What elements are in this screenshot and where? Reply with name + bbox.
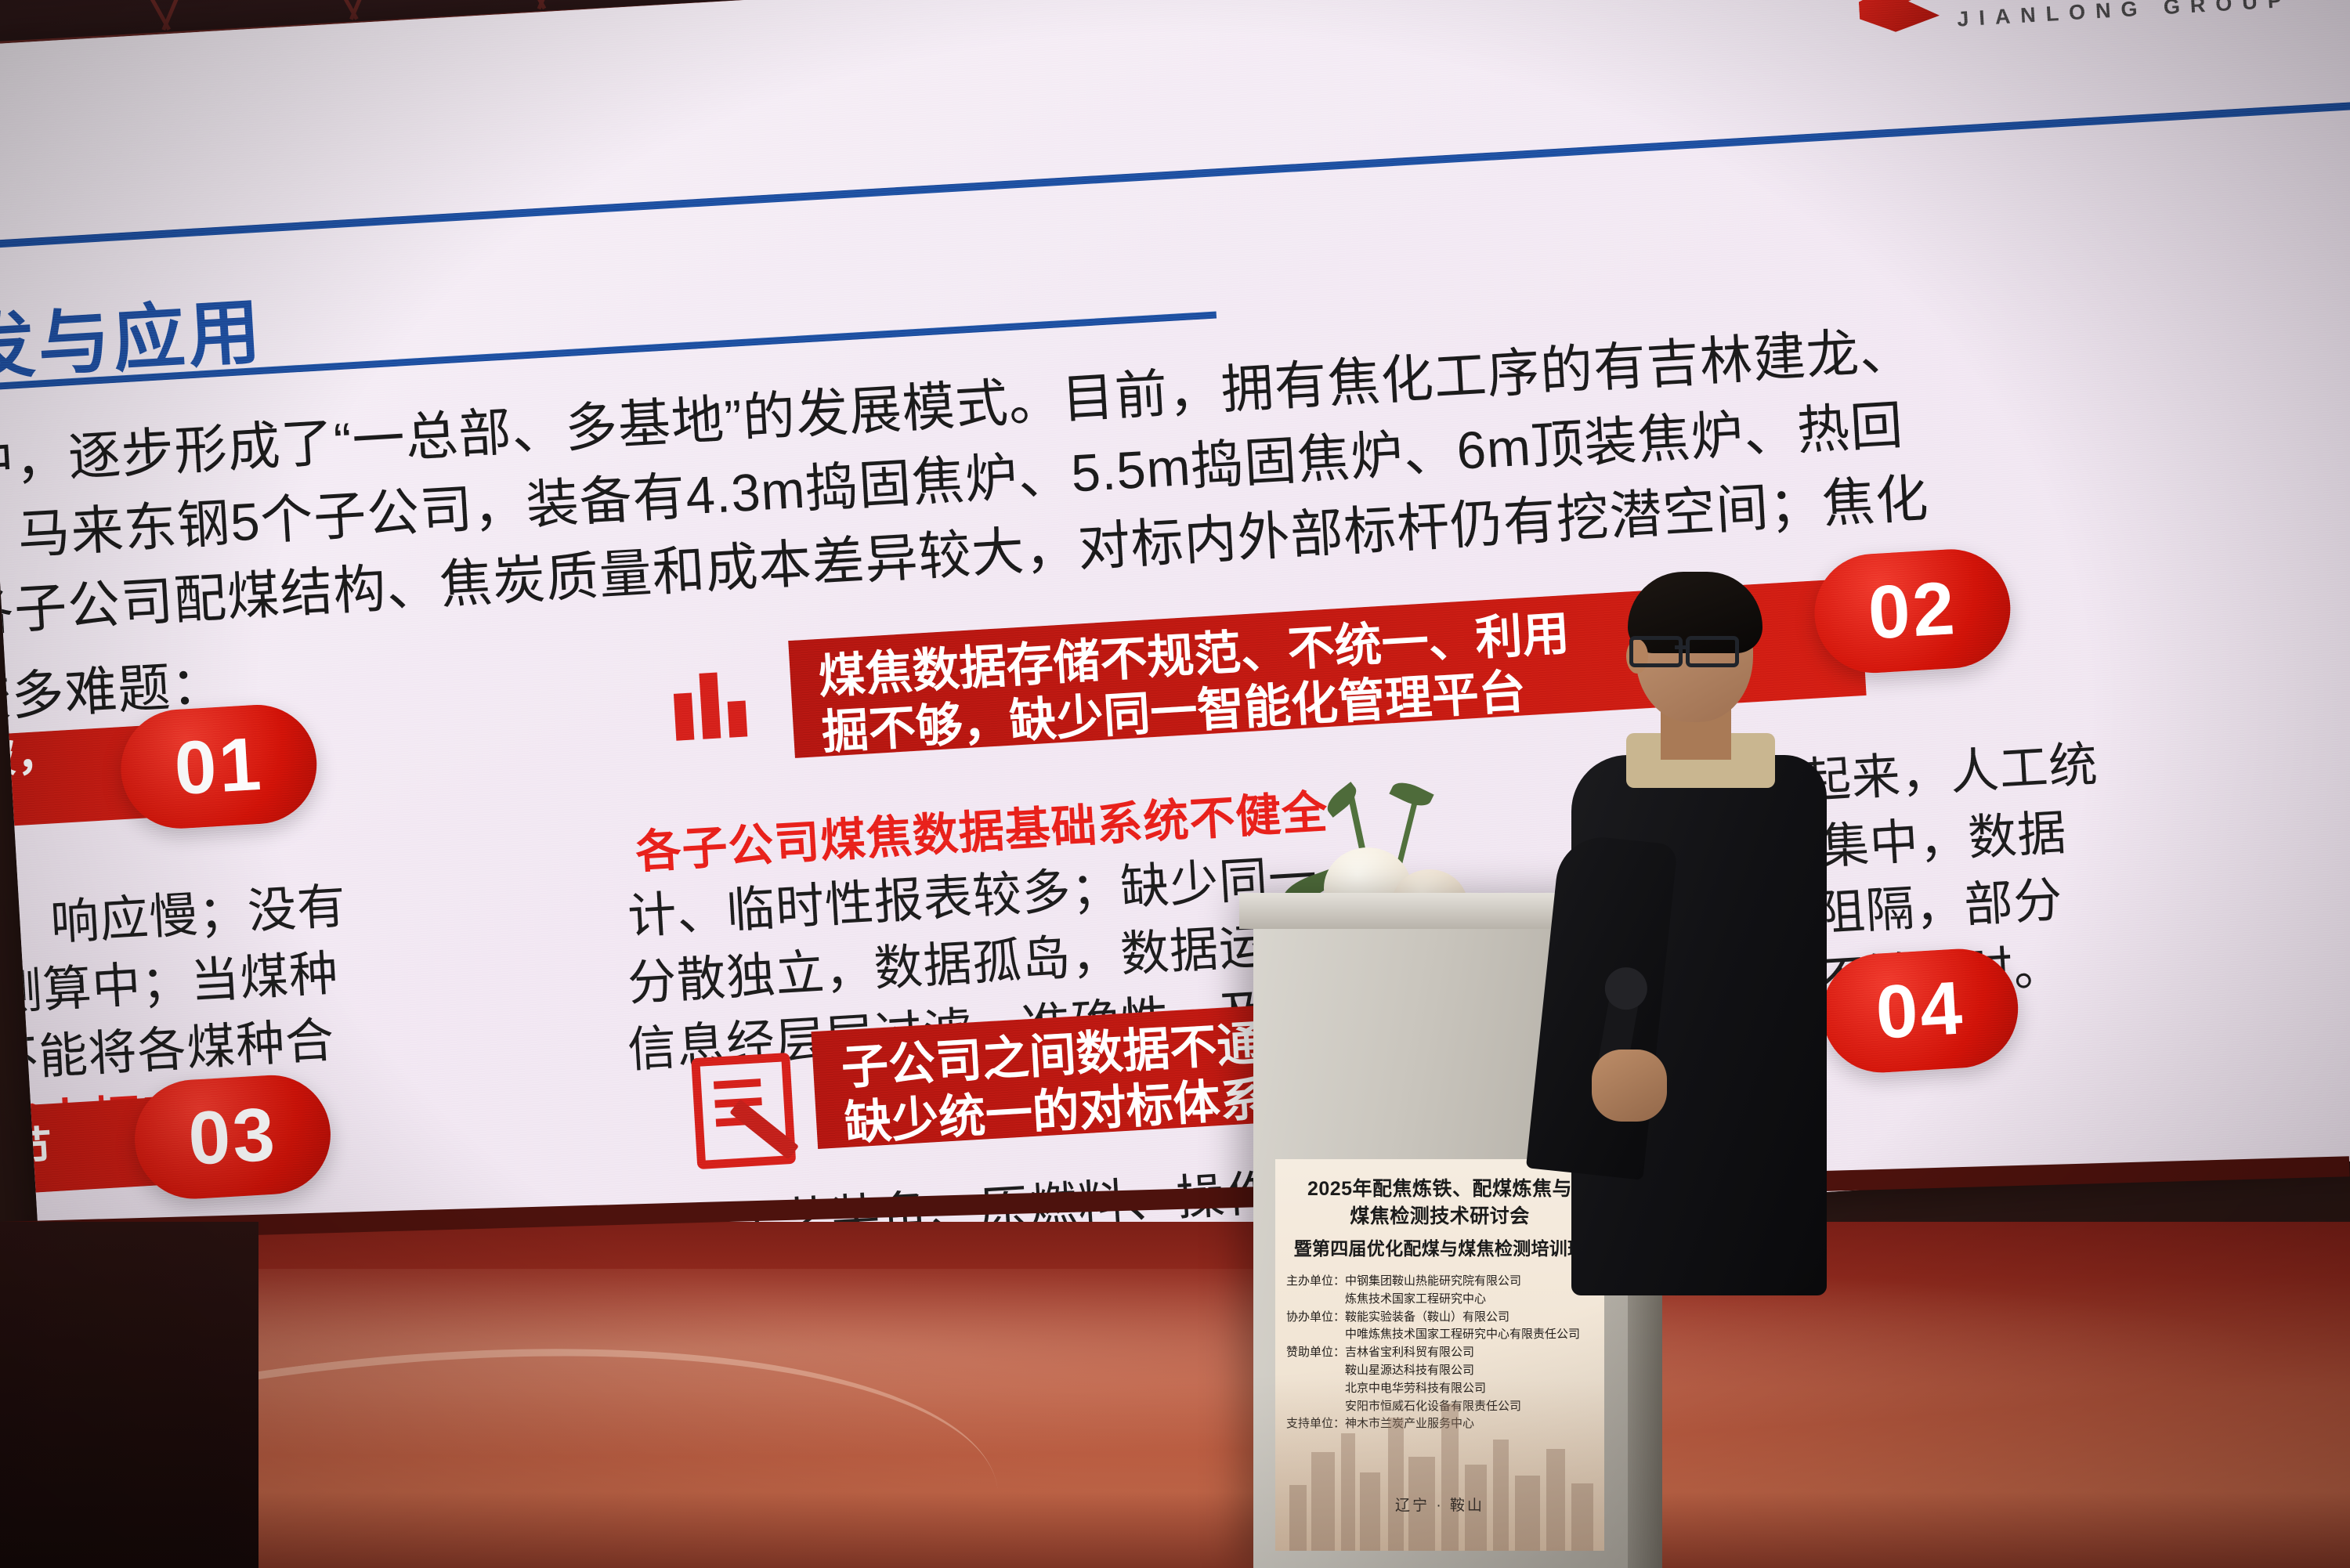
jianlong-group-logo: 建龙集团 JIANLONG GROUP bbox=[1853, 0, 2293, 38]
presenter-hand bbox=[1592, 1050, 1667, 1122]
item-03-headline: 批中间环节 bbox=[0, 1122, 85, 1187]
item-04-number-badge: 04 bbox=[1819, 945, 2021, 1075]
item-02-body-right-line-3: 阻隔，部分 bbox=[1815, 869, 2065, 948]
item-03-card: 批中间环节 03 bbox=[0, 1086, 349, 1206]
item-01-card: 不敢突破， 型 01 bbox=[0, 714, 359, 838]
item-01-number-badge: 01 bbox=[117, 702, 320, 832]
item-01-headline: 不敢突破， 型 bbox=[0, 728, 96, 839]
organizer-value: 鞍山星源达科技有限公司 bbox=[1345, 1362, 1595, 1380]
organizer-label: 主办单位： bbox=[1286, 1273, 1345, 1309]
organizer-value: 鞍能实验装备（鞍山）有限公司 bbox=[1345, 1309, 1595, 1327]
slide-top-rule bbox=[0, 99, 2350, 249]
bar-chart-icon bbox=[673, 671, 748, 741]
slide-logo-bar: 建龙集团 JIANLONG GROUP SINO bbox=[1853, 0, 2350, 38]
organizer-row: 协办单位：鞍能实验装备（鞍山）有限公司中唯炼焦技术国家工程研究中心有限责任公司 bbox=[1286, 1309, 1595, 1345]
organizer-row: 主办单位：中钢集团鞍山热能研究院有限公司炼焦技术国家工程研究中心 bbox=[1286, 1273, 1595, 1309]
organizer-label: 协办单位： bbox=[1286, 1309, 1345, 1345]
presenter bbox=[1551, 580, 1833, 1284]
stage-left-dark-wall bbox=[0, 1222, 258, 1568]
item-03-number-badge: 03 bbox=[132, 1072, 334, 1202]
conference-stage-scene: 建龙集团 JIANLONG GROUP SINO 发与应用 中，逐步形成了“一总… bbox=[0, 0, 2350, 1568]
item-02-number-badge: 02 bbox=[1811, 546, 2013, 676]
organizer-value: 吉林省宝利科贸有限公司 bbox=[1345, 1344, 1595, 1362]
jianlong-s-mark-icon bbox=[1853, 0, 1943, 36]
organizer-value: 炼焦技术国家工程研究中心 bbox=[1345, 1291, 1595, 1309]
sino-logo-text: SINO bbox=[2316, 0, 2350, 5]
item-02-body-right-line-2: 集中，数据 bbox=[1819, 801, 2069, 880]
stage-floor bbox=[0, 1222, 2350, 1568]
led-presentation-screen: 建龙集团 JIANLONG GROUP SINO 发与应用 中，逐步形成了“一总… bbox=[0, 0, 2350, 1296]
glasses-icon bbox=[1629, 636, 1755, 663]
jianlong-logo-en: JIANLONG GROUP bbox=[1956, 0, 2292, 32]
sign-location: 辽宁 · 鞍山 bbox=[1275, 1494, 1604, 1515]
skyline-graphic bbox=[1275, 1378, 1604, 1551]
slide-surface: 建龙集团 JIANLONG GROUP SINO 发与应用 中，逐步形成了“一总… bbox=[0, 0, 2350, 1296]
sino-logo: SINO bbox=[2311, 0, 2350, 5]
organizer-value: 中唯炼焦技术国家工程研究中心有限责任公司 bbox=[1345, 1326, 1595, 1344]
